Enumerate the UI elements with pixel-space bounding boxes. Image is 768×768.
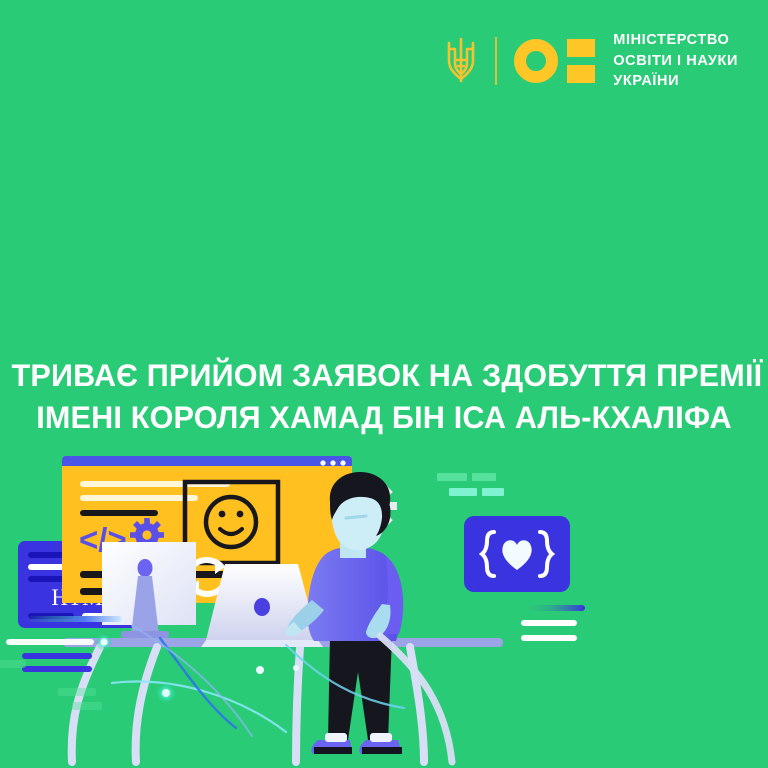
mark-bars — [567, 39, 595, 83]
poster-canvas: МІНІСТЕРСТВО ОСВІТИ І НАУКИ УКРАЇНИ ТРИВ… — [0, 0, 768, 768]
decor-block-group-1 — [437, 473, 504, 496]
mon-o-mark-icon — [514, 35, 595, 87]
hero-illustration: HTML </> — [0, 440, 768, 768]
mark-bar-bottom — [567, 65, 595, 83]
page-title: ТРИВАЄ ПРИЙОМ ЗАЯВОК НА ЗДОБУТТЯ ПРЕМІЇ … — [12, 355, 757, 438]
desktop-monitor — [102, 542, 196, 638]
ministry-name-text: МІНІСТЕРСТВО ОСВІТИ І НАУКИ УКРАЇНИ — [613, 30, 738, 92]
ministry-logo: МІНІСТЕРСТВО ОСВІТИ І НАУКИ УКРАЇНИ — [444, 28, 738, 94]
mark-circle — [514, 39, 558, 83]
logo-divider — [495, 37, 497, 85]
headline-line-1: ТРИВАЄ ПРИЙОМ ЗАЯВОК НА ЗДОБУТТЯ ПРЕМІЇ — [12, 355, 757, 397]
decor-lines-right — [521, 605, 585, 641]
braces-heart-card — [464, 516, 570, 592]
ukraine-trident-emblem-icon — [444, 35, 478, 87]
headline-line-2: ІМЕНІ КОРОЛЯ ХАМАД БІН ІСА АЛЬ-КХАЛІФА — [12, 397, 757, 439]
mark-bar-top — [567, 39, 595, 57]
